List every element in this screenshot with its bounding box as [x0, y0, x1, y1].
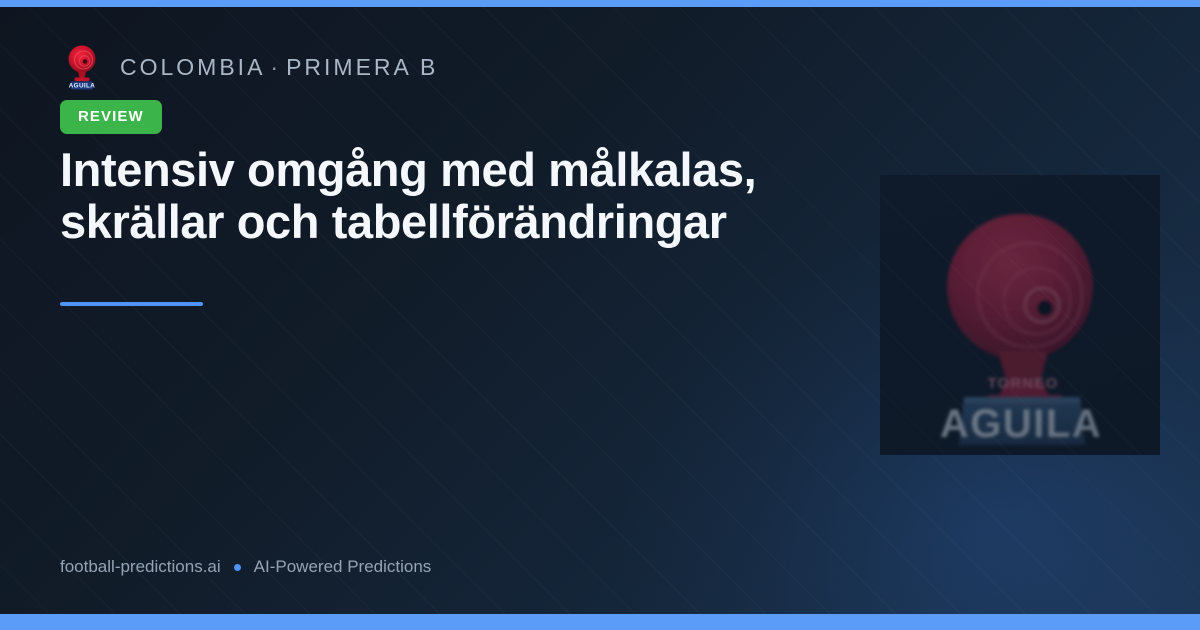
page-title: Intensiv omgång med målkalas, skrällar o… [60, 144, 880, 247]
footer: football-predictions.ai AI-Powered Predi… [60, 557, 431, 577]
header-separator: · [265, 54, 286, 80]
social-share-card: AGUILA COLOMBIA·PRIMERA B REVIEW Intensi… [0, 0, 1200, 630]
svg-text:AGUILA: AGUILA [69, 83, 96, 90]
blue-dot-icon [234, 564, 241, 571]
aguila-trophy-logo-icon: AGUILA [60, 42, 104, 92]
competition-name: PRIMERA B [286, 54, 438, 80]
bottom-accent-bar [0, 614, 1200, 630]
status-badge: REVIEW [60, 100, 162, 134]
svg-text:TORNEO: TORNEO [987, 375, 1058, 392]
footer-tagline: AI-Powered Predictions [254, 557, 432, 577]
league-label: COLOMBIA·PRIMERA B [120, 54, 438, 81]
league-header: AGUILA COLOMBIA·PRIMERA B [60, 42, 438, 92]
country-name: COLOMBIA [120, 54, 265, 80]
site-name: football-predictions.ai [60, 557, 221, 577]
svg-text:AGUILA: AGUILA [940, 402, 1102, 446]
top-accent-bar [0, 0, 1200, 7]
title-divider [60, 302, 203, 306]
article-image: TORNEO AGUILA [880, 175, 1160, 455]
